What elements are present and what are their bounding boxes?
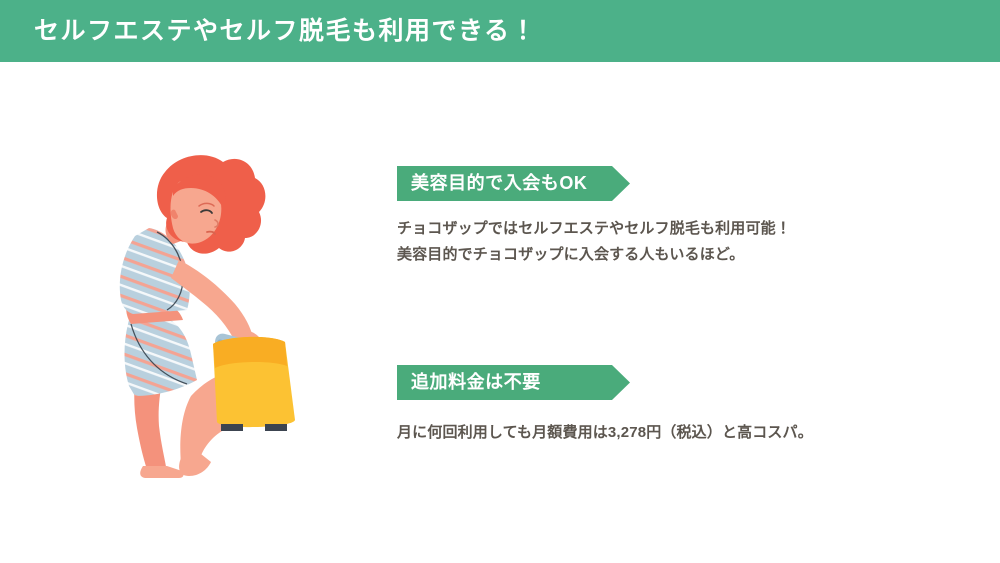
ribbon-label: 美容目的で入会もOK [411,166,587,201]
content-block-beauty-ok: 美容目的で入会もOK チョコザップではセルフエステやセルフ脱毛も利用可能！ 美容… [397,166,630,201]
ribbon-banner-no-extra-fee: 追加料金は不要 [397,365,630,400]
content-block-no-extra-fee: 追加料金は不要 月に何回利用しても月額費用は3,278円（税込）と高コスパ。 [397,365,630,400]
woman-using-self-epilator-illustration [95,128,335,478]
body-text-beauty-ok: チョコザップではセルフエステやセルフ脱毛も利用可能！ 美容目的でチョコザップに入… [397,216,869,268]
illustration-svg [95,128,335,478]
body-text-no-extra-fee: 月に何回利用しても月額費用は3,278円（税込）と高コスパ。 [397,420,855,446]
slide-canvas: セルフエステやセルフ脱毛も利用できる！ [0,0,1000,563]
yellow-stool [213,337,295,431]
page-title: セルフエステやセルフ脱毛も利用できる！ [34,16,537,46]
ribbon-banner-beauty-ok: 美容目的で入会もOK [397,166,630,201]
ribbon-label: 追加料金は不要 [411,365,541,400]
